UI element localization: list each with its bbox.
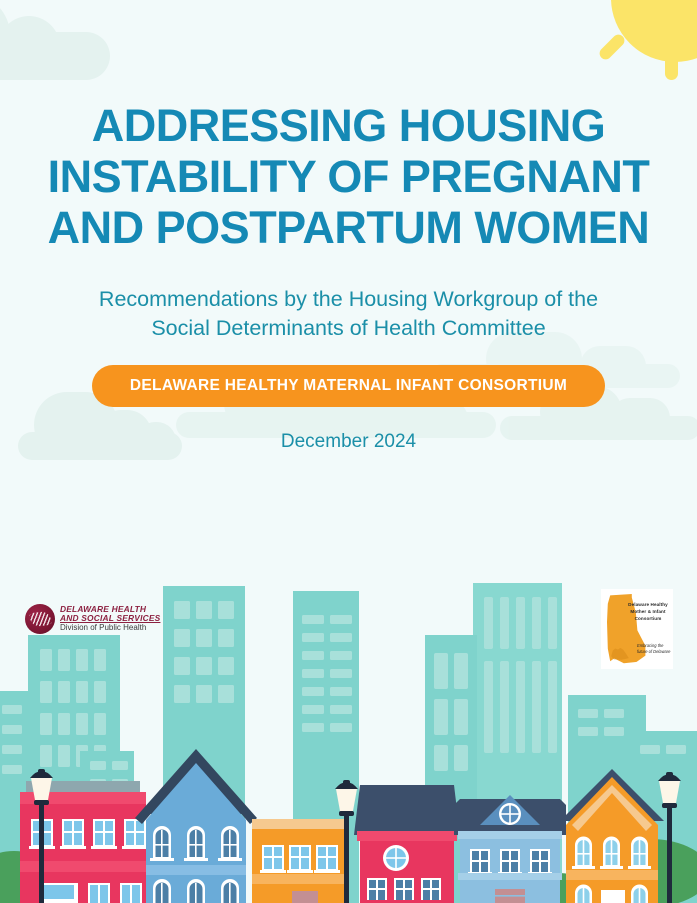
dhss-line-2: AND SOCIAL SERVICES [60, 614, 160, 623]
page-subtitle: Recommendations by the Housing Workgroup… [0, 285, 697, 343]
cover-text-block: ADDRESSING HOUSING INSTABILITY OF PREGNA… [0, 0, 697, 453]
dhmic-logo: Delaware Healthy Mother & Infant Consort… [601, 589, 673, 669]
dhmic-logo-title: Delaware Healthy Mother & Infant Consort… [627, 601, 669, 622]
seal-swoosh-icon [29, 611, 52, 627]
dhss-seal-icon [25, 604, 55, 634]
dhss-logo: DELAWARE HEALTH AND SOCIAL SERVICES Divi… [25, 604, 160, 634]
dhmic-logo-tagline: Embracing the future of Delaware [637, 643, 671, 655]
badge-container: DELAWARE HEALTHY MATERNAL INFANT CONSORT… [0, 365, 697, 407]
cover-page: ADDRESSING HOUSING INSTABILITY OF PREGNA… [0, 0, 697, 903]
dhss-line-3: Division of Public Health [60, 624, 160, 633]
dhss-logo-text: DELAWARE HEALTH AND SOCIAL SERVICES Divi… [60, 605, 160, 633]
page-title: ADDRESSING HOUSING INSTABILITY OF PREGNA… [0, 100, 697, 253]
status-badge: DELAWARE HEALTHY MATERNAL INFANT CONSORT… [92, 365, 605, 407]
publication-date: December 2024 [0, 431, 697, 453]
